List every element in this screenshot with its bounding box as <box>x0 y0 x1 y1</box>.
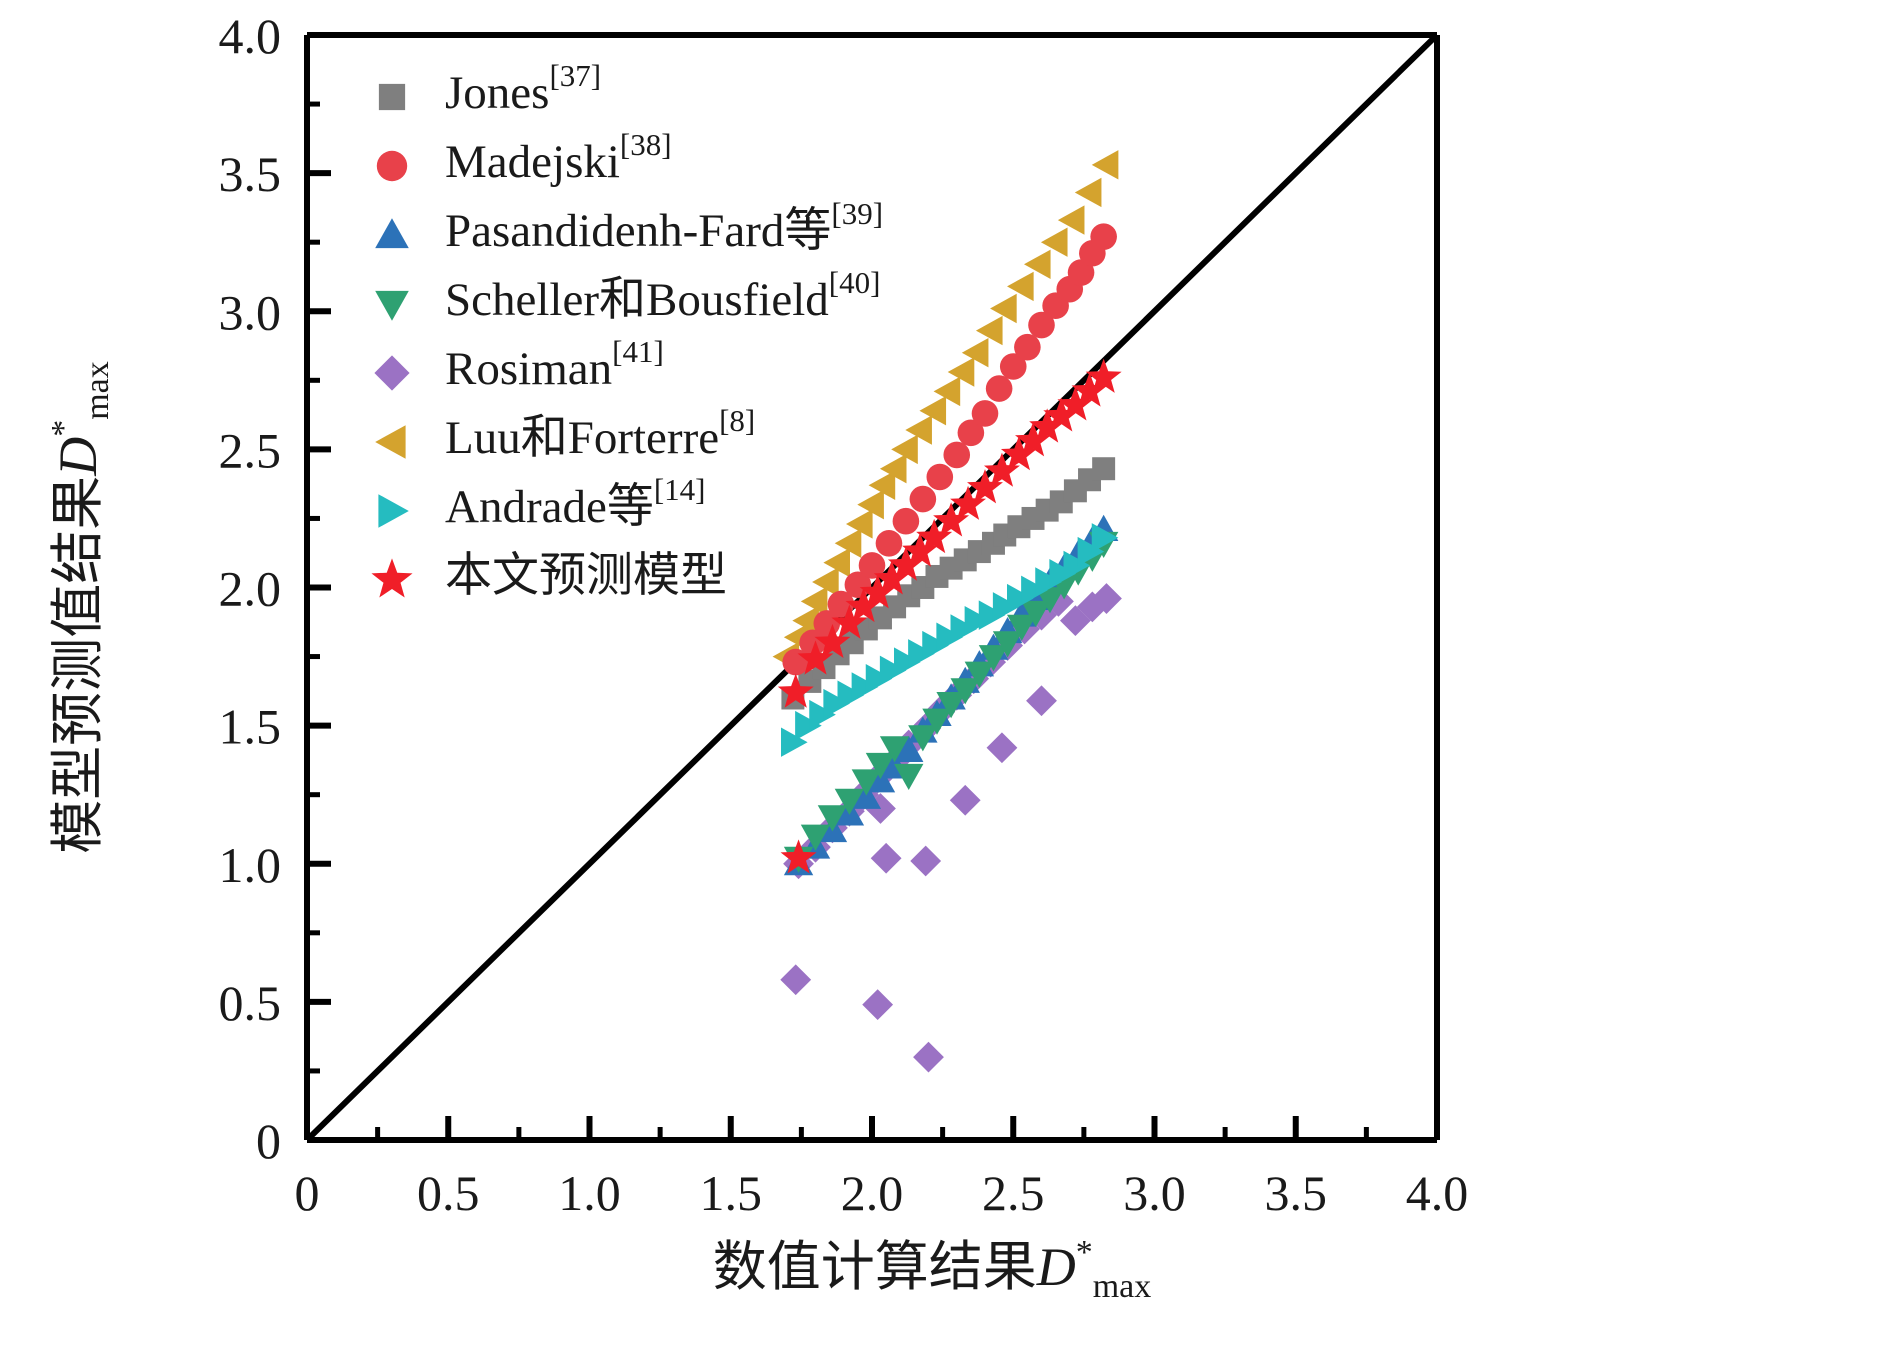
data-point-marker <box>976 316 1003 345</box>
legend-item-label: Scheller和Bousfield[40] <box>445 265 880 326</box>
data-point-marker <box>1092 150 1119 179</box>
x-axis-title: 数值计算结果D*max <box>713 1234 1152 1305</box>
square-marker-icon <box>379 84 405 110</box>
y-axis-tick-label: 1.0 <box>219 837 282 893</box>
legend-item-label: Jones[37] <box>445 58 601 119</box>
y-axis-tick-label: 2.0 <box>219 561 282 617</box>
triangle-down-marker-icon <box>375 291 409 321</box>
data-point-marker <box>893 508 920 535</box>
data-point-marker <box>987 732 1018 763</box>
legend-item-reference: [37] <box>549 58 601 93</box>
data-point-marker <box>1024 250 1051 279</box>
diamond-marker-icon <box>374 355 409 390</box>
y-axis-tick-label: 0.5 <box>219 975 282 1031</box>
data-point-marker <box>910 486 937 513</box>
data-point-marker <box>972 400 999 427</box>
y-axis-tick-label: 0 <box>256 1113 281 1169</box>
data-point-marker <box>871 843 902 874</box>
data-point-marker <box>1092 457 1115 480</box>
data-point-marker <box>990 294 1017 323</box>
data-point-marker <box>950 785 981 816</box>
legend-item-reference: [39] <box>831 196 883 231</box>
data-point-marker <box>1026 685 1057 716</box>
x-axis-tick-label: 1.5 <box>700 1165 763 1221</box>
x-axis-tick-label: 3.0 <box>1123 1165 1186 1221</box>
legend-item-reference: [40] <box>829 265 881 300</box>
y-axis-tick-label: 3.5 <box>219 146 282 202</box>
y-axis-title: 模型预测值结果D*max <box>45 361 116 854</box>
data-point-marker <box>986 375 1013 402</box>
data-point-marker <box>943 442 970 469</box>
legend-item-label: Pasandidenh-Fard等[39] <box>445 196 883 257</box>
data-point-marker <box>862 989 893 1020</box>
data-point-marker <box>1058 205 1085 234</box>
legend-item-label: Andrade等[14] <box>445 472 705 533</box>
y-axis-title-group: 模型预测值结果D*max <box>45 361 116 854</box>
triangle-left-marker-icon <box>375 425 405 459</box>
triangle-up-marker-icon <box>375 218 409 248</box>
data-point-marker <box>910 846 941 877</box>
legend-item-triangle-up[interactable]: Pasandidenh-Fard等[39] <box>375 196 883 257</box>
legend-item-triangle-left[interactable]: Luu和Forterre[8] <box>375 403 755 464</box>
legend-item-square[interactable]: Jones[37] <box>379 58 601 119</box>
data-point-marker <box>1014 334 1041 361</box>
data-point-marker <box>1007 272 1034 301</box>
legend-item-triangle-down[interactable]: Scheller和Bousfield[40] <box>375 265 880 326</box>
y-axis-tick-label: 4.0 <box>219 8 282 64</box>
circle-marker-icon <box>377 151 407 181</box>
y-axis-tick-label: 3.0 <box>219 284 282 340</box>
scatter-plot-figure: 00.51.01.52.02.53.03.54.000.51.01.52.02.… <box>0 0 1890 1347</box>
triangle-right-marker-icon <box>378 494 408 528</box>
legend-item-reference: [38] <box>620 127 672 162</box>
data-point-marker <box>876 530 903 557</box>
legend-item-label: Rosiman[41] <box>445 334 664 395</box>
x-axis-tick-label: 2.0 <box>841 1165 904 1221</box>
legend-item-circle[interactable]: Madejski[38] <box>377 127 672 188</box>
star-marker-icon <box>371 558 412 597</box>
plot-canvas: 00.51.01.52.02.53.03.54.000.51.01.52.02.… <box>0 0 1890 1347</box>
data-point-marker <box>1041 227 1068 256</box>
x-axis-tick-label: 0.5 <box>417 1165 480 1221</box>
x-axis-tick-label: 4.0 <box>1406 1165 1469 1221</box>
legend-item-reference: [8] <box>719 403 755 438</box>
data-point-marker <box>913 1042 944 1073</box>
x-axis-tick-label: 2.5 <box>982 1165 1045 1221</box>
legend-item-reference: [14] <box>654 472 706 507</box>
legend-item-label: Madejski[38] <box>445 127 672 188</box>
legend-item-diamond[interactable]: Rosiman[41] <box>374 334 663 395</box>
x-axis-tick-label: 3.5 <box>1265 1165 1328 1221</box>
data-point-marker <box>1075 178 1102 207</box>
legend-group: Jones[37]Madejski[38]Pasandidenh-Fard等[3… <box>371 58 883 602</box>
data-point-marker <box>1090 223 1117 250</box>
data-point-marker <box>780 964 811 995</box>
legend-item-reference: [41] <box>612 334 664 369</box>
data-point-marker <box>927 464 954 491</box>
x-axis-tick-label: 0 <box>295 1165 320 1221</box>
legend-item-star[interactable]: 本文预测模型 <box>371 550 727 602</box>
x-axis-tick-label: 1.0 <box>558 1165 621 1221</box>
legend-item-label: 本文预测模型 <box>445 550 727 602</box>
legend-item-triangle-right[interactable]: Andrade等[14] <box>378 472 705 533</box>
y-axis-tick-label: 1.5 <box>219 699 282 755</box>
legend-item-label: Luu和Forterre[8] <box>445 403 755 464</box>
y-axis-tick-label: 2.5 <box>219 422 282 478</box>
